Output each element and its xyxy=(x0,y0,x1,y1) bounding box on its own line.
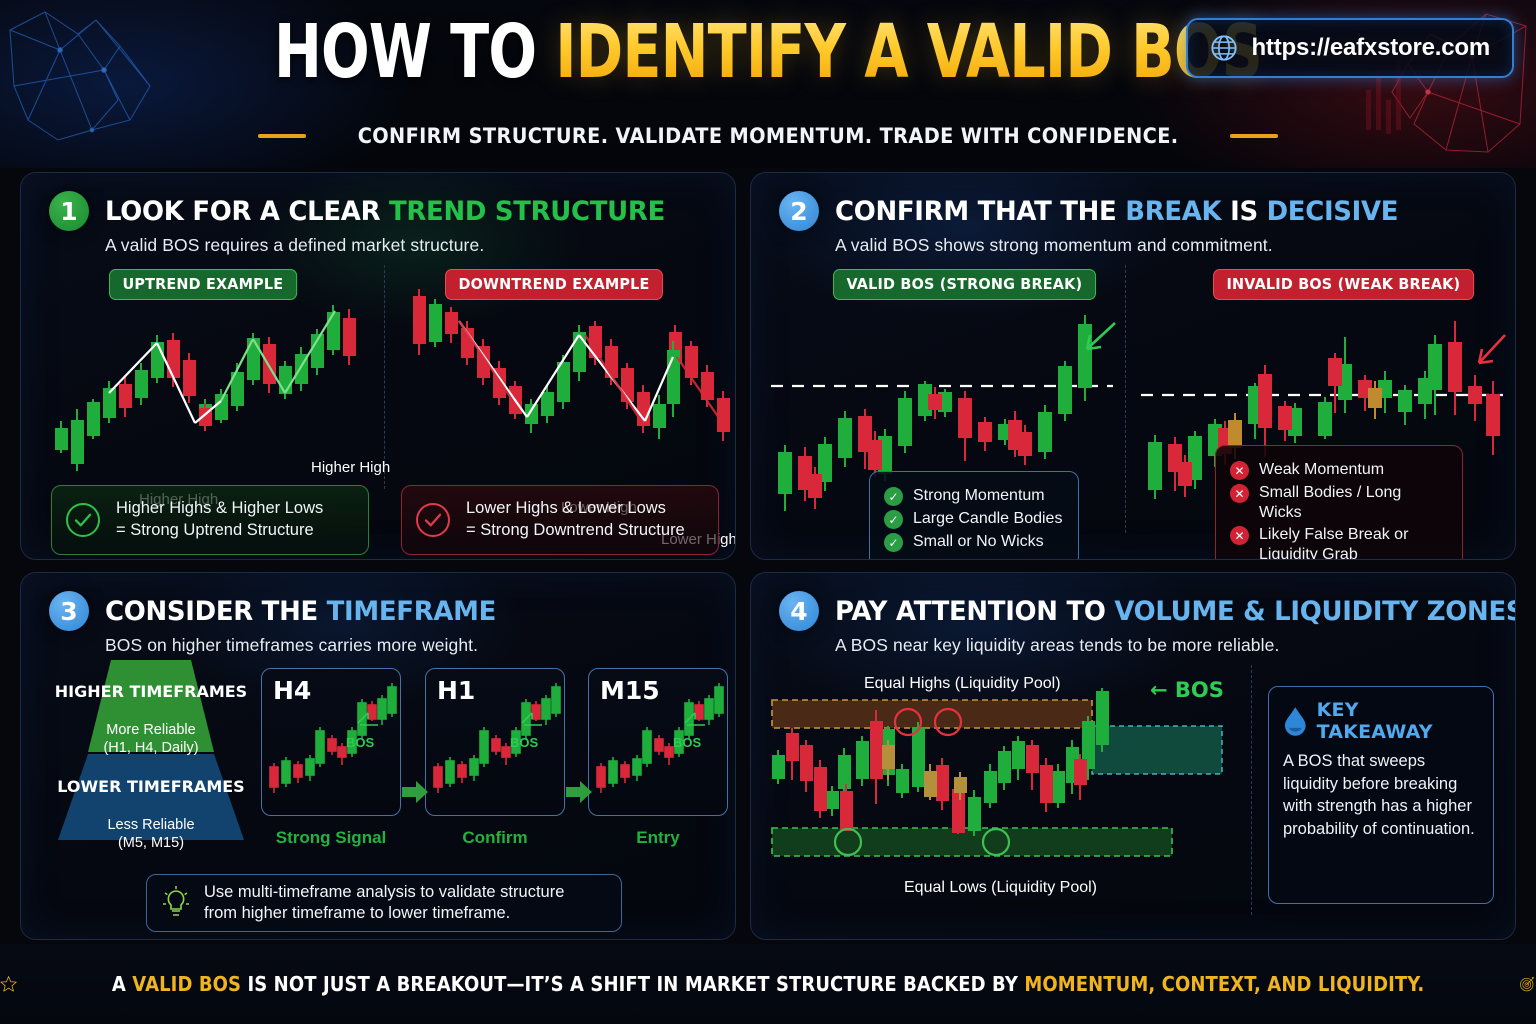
title-yellow: IDENTIFY A VALID BOS xyxy=(555,9,1262,95)
panel-1-title: LOOK FOR A CLEAR TREND STRUCTURE xyxy=(105,196,665,227)
header: HOW TO IDENTIFY A VALID BOS CONFIRM STRU… xyxy=(0,0,1536,168)
panel-2-header: 2 CONFIRM THAT THE BREAK IS DECISIVE xyxy=(779,191,1422,231)
chip-valid-bos: VALID BOS (STRONG BREAK) xyxy=(833,269,1096,300)
key-takeaway-header: KEY TAKEAWAY xyxy=(1283,699,1479,743)
timeframe-card-h1-name: H1 xyxy=(437,676,475,705)
timeframe-card-h4[interactable]: H4 xyxy=(261,668,401,816)
panel-3-subtitle: BOS on higher timeframes carries more we… xyxy=(105,635,478,656)
panel-2-title: CONFIRM THAT THE BREAK IS DECISIVE xyxy=(835,196,1398,227)
cross-icon: ✕ xyxy=(1230,526,1249,545)
website-url-button[interactable]: https://eafxstore.com xyxy=(1186,18,1514,78)
multi-timeframe-tip-box: Use multi-timeframe analysis to validate… xyxy=(146,874,622,932)
pyramid-higher-title-text: HIGHER TIMEFRAMES xyxy=(55,682,247,701)
timeframe-caption-h4: Strong Signal xyxy=(261,828,401,848)
panel-2-title-accent1: BREAK xyxy=(1125,196,1221,227)
cross-icon: ✕ xyxy=(1230,461,1249,480)
list-item: ✕Small Bodies / Long Wicks xyxy=(1230,483,1448,522)
list-item: ✕Likely False Break or Liquidity Grab xyxy=(1230,525,1448,560)
valid-point-1: Strong Momentum xyxy=(913,486,1045,506)
infographic-page: HOW TO IDENTIFY A VALID BOS CONFIRM STRU… xyxy=(0,0,1536,1024)
panel-1-subtitle: A valid BOS requires a defined market st… xyxy=(105,235,484,256)
panel-4-title-main: PAY ATTENTION TO xyxy=(835,596,1114,627)
pyramid-higher-sub1: More Reliable xyxy=(36,722,266,739)
panel-2-subtitle: A valid BOS shows strong momentum and co… xyxy=(835,235,1273,256)
panel-2-decisive-break: 2 CONFIRM THAT THE BREAK IS DECISIVE A v… xyxy=(750,172,1516,560)
equal-lows-zone xyxy=(772,828,1172,856)
panel-4-header: 4 PAY ATTENTION TO VOLUME & LIQUIDITY ZO… xyxy=(779,591,1516,631)
step-badge-1: 1 xyxy=(49,191,89,231)
water-drop-icon xyxy=(1283,706,1308,736)
pyramid-lower-title-text: LOWER TIMEFRAMES xyxy=(57,777,244,796)
list-item: ✓Large Candle Bodies xyxy=(884,509,1064,529)
tip-line-1: Use multi-timeframe analysis to validate… xyxy=(204,882,564,903)
check-icon: ✓ xyxy=(884,510,903,529)
dash-right xyxy=(1230,134,1278,138)
title-white: HOW TO xyxy=(274,9,555,95)
timeframe-card-h1[interactable]: H1 xyxy=(425,668,565,816)
step-badge-3: 3 xyxy=(49,591,89,631)
downtrend-conclusion-l1: Lower Highs & Lower Lows xyxy=(466,498,685,520)
breaker-zone xyxy=(1092,726,1222,774)
liquidity-candlestick-chart xyxy=(762,688,1262,878)
panel-4-title-accent: VOLUME & LIQUIDITY ZONES xyxy=(1114,596,1516,627)
uptrend-conclusion-text: Higher Highs & Higher Lows = Strong Uptr… xyxy=(116,498,323,542)
pyramid-higher-title: HIGHER TIMEFRAMES xyxy=(36,683,266,701)
equal-highs-zone xyxy=(772,700,1092,728)
target-dart-icon xyxy=(1519,955,1536,1013)
arrow-right-icon-1 xyxy=(400,778,430,806)
footer-text-c: IS NOT JUST A BREAKOUT—IT’S A SHIFT IN M… xyxy=(241,972,1024,996)
panel-3-title-main: CONSIDER THE xyxy=(105,596,327,627)
step-badge-4: 4 xyxy=(779,591,819,631)
panel-4-title: PAY ATTENTION TO VOLUME & LIQUIDITY ZONE… xyxy=(835,596,1516,627)
check-icon: ✓ xyxy=(884,533,903,552)
uptrend-conclusion-box: Higher Highs & Higher Lows = Strong Uptr… xyxy=(51,485,369,555)
timeframe-card-h4-bos: BOS xyxy=(346,735,374,750)
timeframe-card-h4-name: H4 xyxy=(273,676,311,705)
uptrend-label-hh2: Higher High xyxy=(311,459,390,476)
key-takeaway-card: KEY TAKEAWAY A BOS that sweeps liquidity… xyxy=(1268,686,1494,904)
invalid-bos-points-list: ✕Weak Momentum ✕Small Bodies / Long Wick… xyxy=(1215,445,1463,560)
downtrend-candlestick-chart xyxy=(401,281,731,481)
pyramid-higher-sub2: (H1, H4, Daily) xyxy=(36,740,266,757)
chip-invalid-bos: INVALID BOS (WEAK BREAK) xyxy=(1213,269,1474,300)
panel-4-subtitle: A BOS near key liquidity areas tends to … xyxy=(835,635,1279,656)
timeframe-card-m15-name: M15 xyxy=(600,676,660,705)
downtrend-conclusion-box: Lower Highs & Lower Lows = Strong Downtr… xyxy=(401,485,719,555)
panel-1-title-accent: TREND STRUCTURE xyxy=(389,196,665,227)
uptrend-candlestick-chart xyxy=(45,281,385,481)
panel-1-header: 1 LOOK FOR A CLEAR TREND STRUCTURE xyxy=(49,191,688,231)
star-icon xyxy=(0,954,17,1014)
website-url-text: https://eafxstore.com xyxy=(1251,34,1490,62)
footer-text-a: A xyxy=(112,972,132,996)
footer-text: A VALID BOS IS NOT JUST A BREAKOUT—IT’S … xyxy=(112,972,1424,996)
list-item: ✓Strong Momentum xyxy=(884,486,1064,506)
pyramid-lower-sub1: Less Reliable xyxy=(36,817,266,834)
valid-point-2: Large Candle Bodies xyxy=(913,509,1062,529)
uptrend-conclusion-l2: = Strong Uptrend Structure xyxy=(116,520,323,542)
panel-3-title: CONSIDER THE TIMEFRAME xyxy=(105,596,496,627)
footer-text-d: MOMENTUM, CONTEXT, AND LIQUIDITY. xyxy=(1025,972,1425,996)
panel-1-trend-structure: 1 LOOK FOR A CLEAR TREND STRUCTURE A val… xyxy=(20,172,736,560)
list-item: ✕Weak Momentum xyxy=(1230,460,1448,480)
timeframe-card-h1-bos: BOS xyxy=(510,735,538,750)
cross-icon: ✕ xyxy=(1230,484,1249,503)
panel-3-header: 3 CONSIDER THE TIMEFRAME xyxy=(49,591,512,631)
invalid-point-3: Likely False Break or Liquidity Grab xyxy=(1259,525,1448,560)
timeframe-card-m15-bos: BOS xyxy=(673,735,701,750)
key-takeaway-body: A BOS that sweeps liquidity before break… xyxy=(1283,750,1479,840)
check-icon: ✓ xyxy=(884,487,903,506)
key-takeaway-title: KEY TAKEAWAY xyxy=(1317,699,1479,743)
globe-icon xyxy=(1210,34,1238,62)
valid-bos-points-list: ✓Strong Momentum ✓Large Candle Bodies ✓S… xyxy=(869,471,1079,560)
lightbulb-icon xyxy=(161,886,191,920)
equal-lows-label: Equal Lows (Liquidity Pool) xyxy=(904,879,1097,897)
step-badge-2: 2 xyxy=(779,191,819,231)
downtrend-conclusion-text: Lower Highs & Lower Lows = Strong Downtr… xyxy=(466,498,685,542)
uptrend-conclusion-l1: Higher Highs & Higher Lows xyxy=(116,498,323,520)
list-item: ✓Small or No Wicks xyxy=(884,532,1064,552)
panel-1-title-main: LOOK FOR A CLEAR xyxy=(105,196,389,227)
invalid-point-1: Weak Momentum xyxy=(1259,460,1384,480)
pyramid-lower-sub2: (M5, M15) xyxy=(36,835,266,852)
valid-point-3: Small or No Wicks xyxy=(913,532,1044,552)
panel-2-divider xyxy=(1125,265,1126,533)
footer-banner: A VALID BOS IS NOT JUST A BREAKOUT—IT’S … xyxy=(0,944,1536,1024)
arrow-right-icon-2 xyxy=(564,778,594,806)
panel-2-title-mid: IS xyxy=(1221,196,1266,227)
panel-2-title-main: CONFIRM THAT THE xyxy=(835,196,1125,227)
timeframe-card-m15[interactable]: M15 xyxy=(588,668,728,816)
dash-left xyxy=(258,134,306,138)
panel-2-title-accent2: DECISIVE xyxy=(1267,196,1399,227)
pyramid-lower-title: LOWER TIMEFRAMES xyxy=(36,778,266,796)
footer-text-b: VALID BOS xyxy=(132,972,241,996)
check-circle-red-icon xyxy=(416,503,450,537)
timeframe-caption-m15: Entry xyxy=(588,828,728,848)
invalid-point-2: Small Bodies / Long Wicks xyxy=(1259,483,1448,522)
timeframe-caption-h1: Confirm xyxy=(425,828,565,848)
tip-line-2: from higher timeframe to lower timeframe… xyxy=(204,903,564,924)
header-subline: CONFIRM STRUCTURE. VALIDATE MOMENTUM. TR… xyxy=(0,124,1536,148)
downtrend-conclusion-l2: = Strong Downtrend Structure xyxy=(466,520,685,542)
tip-text: Use multi-timeframe analysis to validate… xyxy=(204,882,564,924)
header-subtitle: CONFIRM STRUCTURE. VALIDATE MOMENTUM. TR… xyxy=(358,124,1179,148)
check-circle-icon xyxy=(66,503,100,537)
panel-3-title-accent: TIMEFRAME xyxy=(327,596,496,627)
bos-arrow-invalid xyxy=(1479,335,1505,363)
